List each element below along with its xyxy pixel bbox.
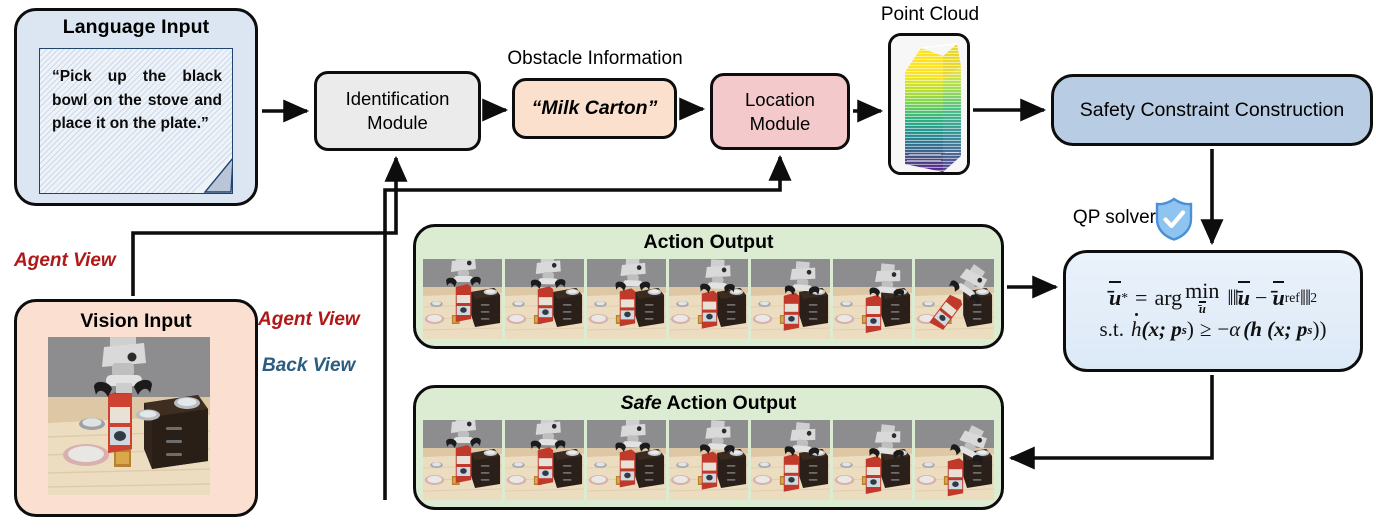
rollout-frame[interactable]: [505, 259, 584, 339]
rollout-frame[interactable]: [751, 259, 830, 339]
language-input-note: “Pick up the black bowl on the stove and…: [39, 48, 233, 194]
identification-module-label-line2: Module: [346, 111, 450, 135]
qp-equals-sym: =: [1135, 285, 1147, 311]
qp-tail-open: (h (x; p: [1243, 317, 1307, 342]
language-input-title: Language Input: [14, 16, 258, 39]
action-output-title: Action Output: [413, 231, 1004, 254]
qp-geq-sym: ≥: [1200, 317, 1212, 342]
identification-module-box[interactable]: Identification Module: [314, 71, 481, 151]
rollout-frame[interactable]: [505, 420, 584, 500]
qp-min-sym: min: [1185, 280, 1219, 302]
identification-module-label-line1: Identification: [346, 87, 450, 111]
rollout-frame[interactable]: [833, 259, 912, 339]
diagram-canvas: Language Input “Pick up the black bowl o…: [0, 0, 1376, 530]
safe-action-output-emphasis: Safe: [621, 392, 662, 414]
location-module-box[interactable]: Location Module: [710, 73, 850, 150]
qp-power-sym: 2: [1310, 290, 1317, 306]
qp-ubar-star-sym: ̄u: [1109, 285, 1121, 311]
safety-constraint-construction-box[interactable]: Safety Constraint Construction: [1051, 74, 1373, 146]
qp-tail-close: )): [1313, 317, 1327, 342]
vision-input-title: Vision Input: [14, 310, 258, 333]
safe-action-output-rest: Action Output: [662, 392, 797, 414]
agent-view-label-1: Agent View: [14, 250, 116, 272]
qp-arg-sym: arg: [1154, 285, 1182, 311]
qp-subject-to: s.t.: [1100, 317, 1125, 342]
rollout-frame[interactable]: [915, 420, 994, 500]
qp-solver-label: QP solver: [1060, 207, 1156, 229]
safe-action-output-title: Safe Action Output: [413, 392, 1004, 415]
qp-uref-sym: ̄u: [1272, 285, 1284, 311]
point-cloud-milk-carton-icon: [891, 36, 970, 175]
agent-view-label-2: Agent View: [258, 309, 360, 331]
location-module-label-line1: Location: [745, 88, 815, 112]
qp-alpha-sym: α: [1229, 317, 1240, 342]
rollout-frame[interactable]: [915, 259, 994, 339]
qp-h-args: (x; p: [1142, 317, 1182, 342]
obstacle-value-box[interactable]: “Milk Carton”: [512, 78, 677, 139]
qp-ref-subscript: ref: [1285, 290, 1300, 306]
point-cloud-caption: Point Cloud: [872, 4, 988, 26]
qp-minus-sym: −: [1255, 285, 1267, 311]
qp-min-subscript: ̄u: [1199, 303, 1206, 316]
rollout-frame[interactable]: [587, 259, 666, 339]
rollout-frame[interactable]: [751, 420, 830, 500]
location-module-label-line2: Module: [745, 112, 815, 136]
sticky-note-icon: [193, 154, 233, 194]
shield-check-icon: [1154, 197, 1194, 241]
qp-neg-sym: −: [1217, 317, 1229, 342]
action-output-frame-strip: [423, 259, 994, 339]
back-view-label: Back View: [262, 355, 355, 377]
rollout-frame[interactable]: [669, 420, 748, 500]
qp-constraint-equation: s.t. h (x; ps) ≥ − α (h (x; ps)): [1100, 317, 1327, 342]
point-cloud-thumbnail[interactable]: [888, 33, 970, 175]
qp-hdot-sym: h: [1131, 317, 1142, 342]
robot-arm-tabletop-scene-icon: [48, 337, 210, 495]
language-input-text: “Pick up the black bowl on the stove and…: [52, 65, 222, 136]
obstacle-information-caption: Obstacle Information: [492, 48, 698, 70]
rollout-frame[interactable]: [587, 420, 666, 500]
vision-input-image[interactable]: [48, 337, 210, 495]
rollout-frame[interactable]: [833, 420, 912, 500]
qp-formula-box[interactable]: ̄u* = arg min ̄u ‖‖ ̄u − ̄uref ‖‖2 s.t. …: [1063, 250, 1363, 372]
rollout-frame[interactable]: [669, 259, 748, 339]
qp-min-operator: min ̄u: [1185, 280, 1219, 316]
safe-action-output-frame-strip: [423, 420, 994, 500]
qp-star-sym: *: [1121, 290, 1128, 306]
rollout-frame[interactable]: [423, 420, 502, 500]
rollout-frame[interactable]: [423, 259, 502, 339]
qp-u-sym: ̄u: [1238, 285, 1250, 311]
qp-h-args-close: ): [1187, 317, 1194, 342]
qp-objective-equation: ̄u* = arg min ̄u ‖‖ ̄u − ̄uref ‖‖2: [1109, 280, 1317, 316]
